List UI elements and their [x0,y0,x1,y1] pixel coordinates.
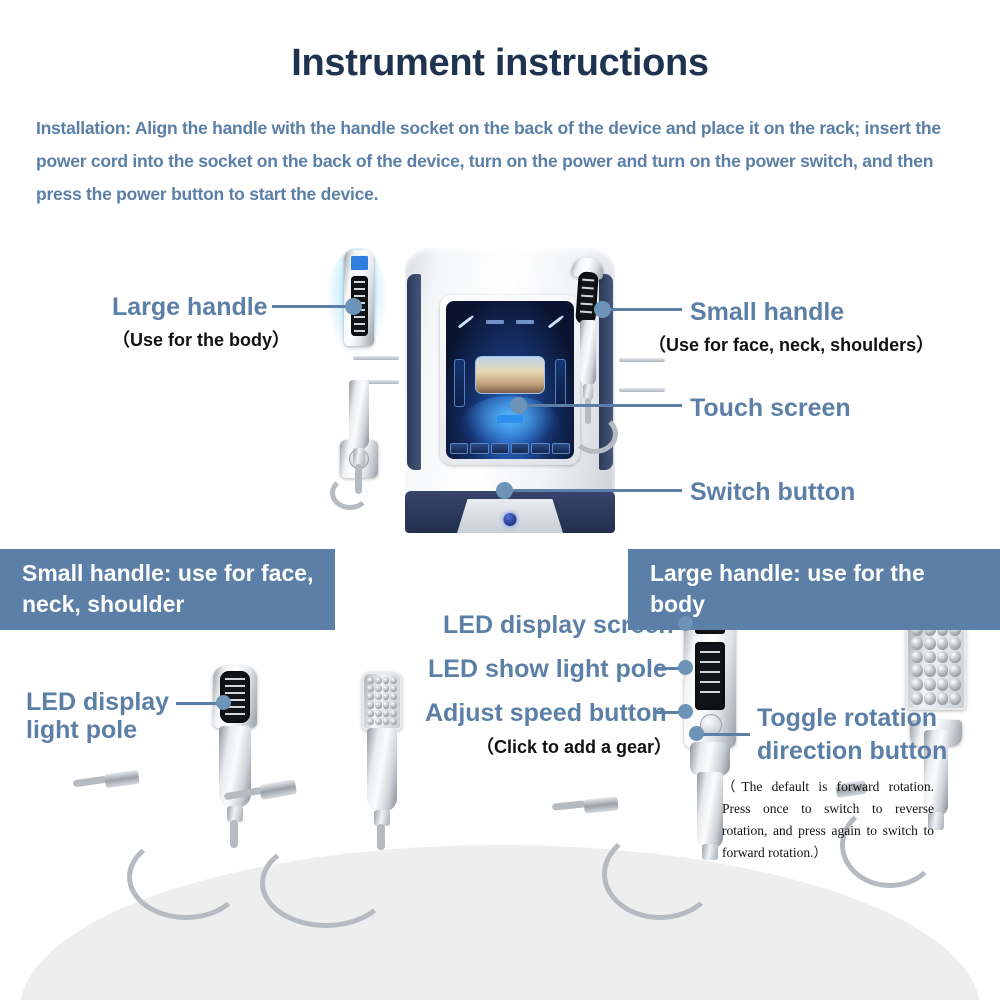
docked-large-handle[interactable] [336,244,380,474]
leader-dot-led-display-light-pole [216,695,231,710]
screen-bottom-button[interactable] [450,443,468,454]
leader-dot-adjust-speed-button [678,704,693,719]
leader-dot-led-display-screen [678,616,693,631]
handle-rack-right-lower [619,388,665,392]
screen-value-1 [480,308,510,336]
callout-small-handle-label: Small handle [690,298,844,326]
leader-line-switch-button [512,489,682,492]
small-handle-a-cable-tail [73,776,108,788]
touch-screen-bezel [440,295,580,465]
small-handle-a-connector [104,770,140,789]
callout-switch-button-label: Switch button [690,478,855,506]
large-handle-cable-tail [552,800,587,811]
leader-line-touch-screen [526,404,682,407]
screen-center-chip [497,415,523,423]
callout-led-display-screen: LED display screen [443,611,674,639]
callout-adjust-speed-note: （Click to add a gear） [476,733,672,759]
callout-led-show-light-pole: LED show light pole [428,655,667,683]
small-handle-unit-a[interactable] [205,666,265,866]
callout-large-handle-label: Large handle [112,293,268,321]
callout-touch-screen-label: Touch screen [690,394,851,422]
handle-rack-right [619,358,665,362]
page-title: Instrument instructions [0,42,1000,85]
leader-dot-large-handle [345,298,362,315]
large-handle-connector [583,796,618,813]
screen-slider-left[interactable] [454,359,465,407]
docked-small-handle[interactable] [568,258,608,468]
screen-value-2 [510,308,540,336]
screen-bottom-button-row [450,443,570,454]
docked-handle-shaft [349,380,369,450]
docked-small-handle-cable-loop [572,414,618,454]
screen-probe-icon-1[interactable] [450,308,480,336]
leader-dot-touch-screen [510,397,527,414]
large-handle-cable-loop [602,828,718,920]
large-handle-led-light-pole [695,642,725,710]
screen-bottom-button[interactable] [491,443,509,454]
small-handle-led-pole [575,271,599,324]
callout-adjust-speed-button: Adjust speed button [425,699,667,727]
callout-led-display-light-pole: LED display light pole [26,688,169,744]
large-handle-shaft [697,772,723,848]
leader-line-large-handle [272,305,352,308]
small-handle-b-cable-stub [377,824,385,850]
screen-bottom-button[interactable] [531,443,549,454]
large-handle-toggle-rotation-area[interactable] [690,742,730,776]
toggle-rotation-description: （The default is forward rotation. Press … [722,776,934,864]
screen-probe-icon-2[interactable] [540,308,570,336]
small-handle-b-roller-head [362,672,402,730]
leader-line-toggle-rotation [700,733,750,736]
screen-bottom-button[interactable] [511,443,529,454]
screen-slider-right[interactable] [555,359,566,407]
infographic-page: Instrument instructions Installation: Al… [0,0,1000,1000]
device-base [405,491,615,533]
callout-small-handle-note: （Use for face, neck, shoulders） [648,331,934,357]
leader-line-small-handle [610,308,682,311]
power-switch-button[interactable] [504,513,517,526]
small-handle-section-banner: Small handle: use for face, neck, should… [0,549,335,630]
screen-bottom-button[interactable] [470,443,488,454]
small-handle-b-grip [367,728,397,812]
small-handle-a-cable-stub [230,820,238,848]
handle-lcd-screen [350,255,369,271]
leader-dot-switch-button [496,482,513,499]
leader-dot-toggle-rotation [689,726,704,741]
screen-top-icon-row [450,308,570,336]
small-handle-b-cable-loop [260,838,392,928]
leader-dot-led-show-light-pole [678,660,693,675]
callout-toggle-rotation-line1: Toggle rotation [757,704,937,732]
docked-handle-cable-loop [330,476,370,510]
callout-toggle-rotation-line2: direction button [757,737,947,765]
screen-preview-image [475,356,545,394]
docked-small-handle-shaft [580,320,596,386]
leader-dot-small-handle [594,301,611,318]
touch-screen-display[interactable] [446,301,574,459]
small-handle-unit-b[interactable] [352,672,412,872]
device-side-panel-left [407,274,421,470]
installation-instructions-paragraph: Installation: Align the handle with the … [36,112,968,211]
large-roller-head [906,618,966,710]
callout-large-handle-note: （Use for the body） [112,326,290,352]
small-handle-a-cable-loop [127,834,245,920]
